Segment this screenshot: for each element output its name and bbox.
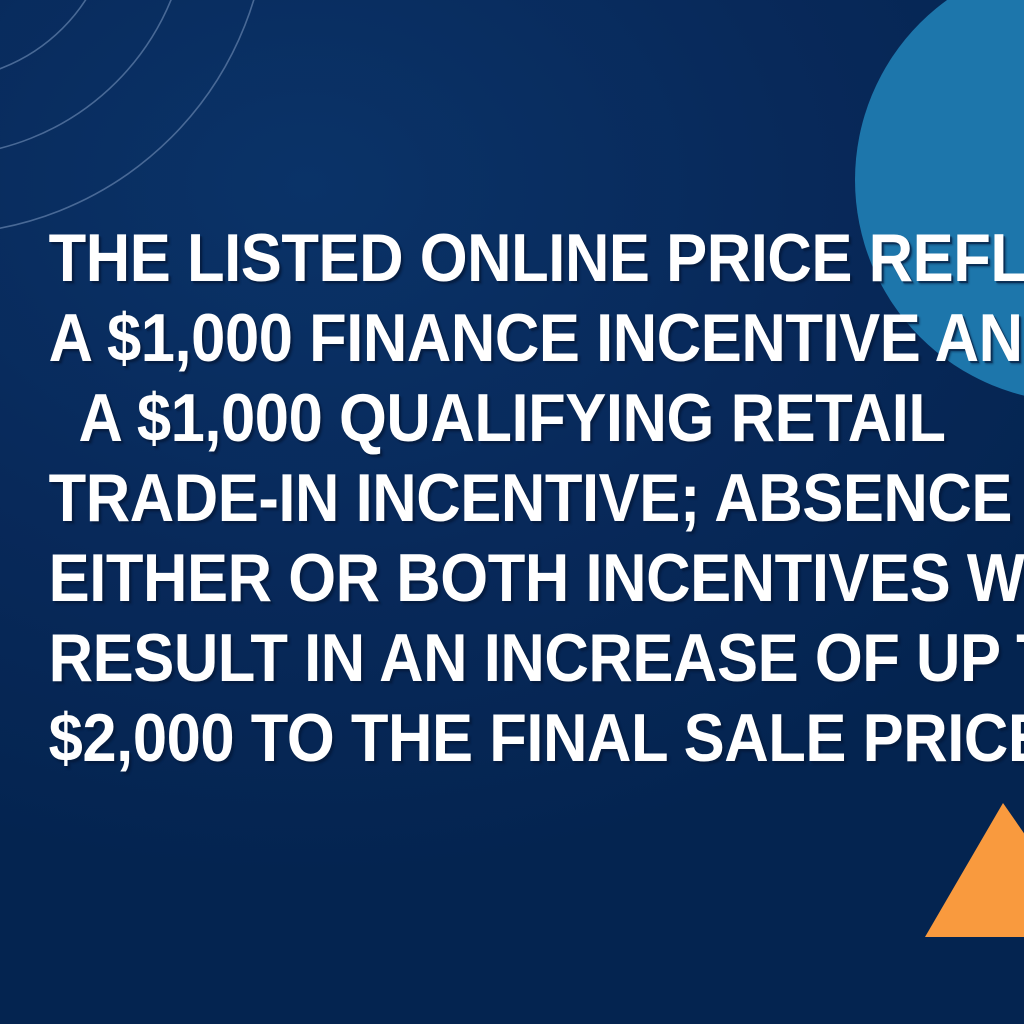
disclaimer-text-block: THE LISTED ONLINE PRICE REFLECTS A $1,00… xyxy=(0,218,1024,778)
ring-arc-1 xyxy=(0,0,38,4)
disclaimer-line-2: A $1,000 FINANCE INCENTIVE AND xyxy=(49,298,976,378)
promo-banner: THE LISTED ONLINE PRICE REFLECTS A $1,00… xyxy=(0,0,1024,1024)
concentric-arc-rings xyxy=(0,0,268,234)
ring-arc-4 xyxy=(0,0,268,234)
ring-arc-2 xyxy=(0,0,114,80)
disclaimer-line-4: TRADE-IN INCENTIVE; ABSENCE OF xyxy=(49,458,976,538)
disclaimer-line-6: RESULT IN AN INCREASE OF UP TO xyxy=(49,618,976,698)
ring-arc-3 xyxy=(0,0,190,156)
orange-triangle xyxy=(925,803,1024,937)
disclaimer-line-1: THE LISTED ONLINE PRICE REFLECTS xyxy=(49,218,976,298)
disclaimer-line-3: A $1,000 QUALIFYING RETAIL xyxy=(49,378,976,458)
disclaimer-line-5: EITHER OR BOTH INCENTIVES WILL xyxy=(49,538,976,618)
disclaimer-line-7: $2,000 TO THE FINAL SALE PRICE. xyxy=(49,698,976,778)
